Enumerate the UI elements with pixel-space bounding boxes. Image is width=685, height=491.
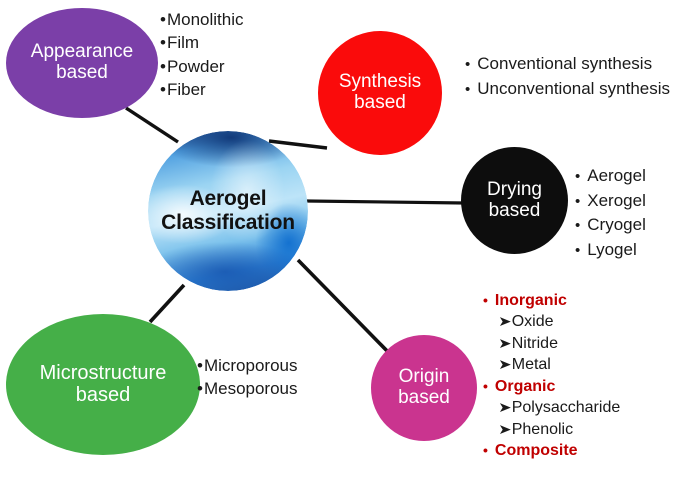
bullet-icon: • — [160, 78, 166, 101]
list-appearance-items: • Monolithic • Film • Powder • Fiber — [160, 8, 244, 102]
list-subitem-label: Phenolic — [512, 419, 573, 440]
page-title: Aerogel Classification — [148, 187, 308, 234]
node-origin-based[interactable]: Origin based — [371, 335, 477, 441]
list-subitem-label: Oxide — [512, 311, 554, 332]
node-appearance-label-line1: Appearance — [31, 42, 133, 63]
node-appearance-label-line2: based — [31, 63, 133, 84]
list-item-label: Unconventional synthesis — [477, 77, 670, 102]
list-item-label: Film — [167, 31, 199, 54]
bullet-icon: • — [465, 79, 470, 101]
connector-microstructure — [150, 285, 184, 322]
list-synthesis-items: • Conventional synthesis • Unconventiona… — [465, 52, 670, 101]
list-item: • Cryogel — [575, 213, 646, 238]
list-group-label: Organic — [495, 376, 555, 397]
node-microstructure-based[interactable]: Microstructure based — [6, 314, 200, 455]
arrow-bullet-icon: ➤ — [498, 312, 511, 331]
node-synthesis-label-line1: Synthesis — [339, 72, 421, 93]
node-drying-label-line2: based — [487, 201, 542, 222]
node-origin-label-line2: based — [398, 388, 450, 409]
list-item: • Conventional synthesis — [465, 52, 670, 77]
bullet-icon: • — [575, 166, 580, 188]
bullet-icon: • — [575, 240, 580, 262]
list-item-label: Xerogel — [587, 189, 646, 214]
node-center-aerogel-classification[interactable]: Aerogel Classification — [148, 131, 308, 291]
bullet-icon: • — [197, 354, 203, 377]
bullet-icon: • — [465, 54, 470, 76]
node-microstructure-label-line2: based — [40, 385, 167, 407]
list-item: • Microporous — [197, 354, 298, 377]
list-item-label: Microporous — [204, 354, 298, 377]
bullet-icon: • — [483, 291, 488, 310]
connector-drying — [307, 201, 464, 203]
bullet-icon: • — [160, 31, 166, 54]
list-subitem-label: Metal — [512, 354, 551, 375]
arrow-bullet-icon: ➤ — [498, 420, 511, 439]
list-item: • Powder — [160, 55, 244, 78]
center-label-line2: Classification — [161, 211, 295, 234]
list-item: • Unconventional synthesis — [465, 77, 670, 102]
list-item-label: Conventional synthesis — [477, 52, 652, 77]
list-group-header: • Composite — [483, 440, 620, 461]
node-drying-based[interactable]: Drying based — [461, 147, 568, 254]
bullet-icon: • — [160, 8, 166, 31]
list-group-header: • Organic — [483, 376, 620, 397]
list-group-header: • Inorganic — [483, 290, 620, 311]
arrow-bullet-icon: ➤ — [498, 355, 511, 374]
list-group-label: Composite — [495, 440, 578, 461]
node-origin-label-line1: Origin — [398, 367, 450, 388]
list-item: • Xerogel — [575, 189, 646, 214]
list-item: • Mesoporous — [197, 377, 298, 400]
arrow-bullet-icon: ➤ — [498, 398, 511, 417]
node-drying-label-line1: Drying — [487, 180, 542, 201]
list-subitem: ➤ Metal — [499, 354, 620, 375]
node-microstructure-label-line1: Microstructure — [40, 363, 167, 385]
list-subitem: ➤ Nitride — [499, 333, 620, 354]
list-item-label: Fiber — [167, 78, 206, 101]
list-drying-items: • Aerogel • Xerogel • Cryogel • Lyogel — [575, 164, 646, 263]
list-item-label: Cryogel — [587, 213, 646, 238]
bullet-icon: • — [575, 215, 580, 237]
connector-synthesis — [269, 141, 327, 148]
list-subitem: ➤ Polysaccharide — [499, 397, 620, 418]
list-microstructure-items: • Microporous • Mesoporous — [197, 354, 298, 401]
list-item: • Monolithic — [160, 8, 244, 31]
list-item: • Fiber — [160, 78, 244, 101]
list-subitem: ➤ Phenolic — [499, 419, 620, 440]
list-item-label: Mesoporous — [204, 377, 298, 400]
node-synthesis-label-line2: based — [339, 93, 421, 114]
bullet-icon: • — [160, 55, 166, 78]
list-item: • Lyogel — [575, 238, 646, 263]
aerogel-classification-diagram: Appearance based • Monolithic • Film • P… — [0, 0, 685, 491]
list-group-label: Inorganic — [495, 290, 567, 311]
connector-origin — [298, 260, 393, 357]
bullet-icon: • — [197, 377, 203, 400]
list-item-label: Aerogel — [587, 164, 646, 189]
list-item-label: Monolithic — [167, 8, 244, 31]
list-item: • Aerogel — [575, 164, 646, 189]
bullet-icon: • — [483, 441, 488, 460]
list-subitem-label: Nitride — [512, 333, 558, 354]
list-origin-items: • Inorganic ➤ Oxide ➤ Nitride ➤ Metal • … — [483, 290, 620, 462]
node-synthesis-based[interactable]: Synthesis based — [318, 31, 442, 155]
bullet-icon: • — [483, 377, 488, 396]
center-label-line1: Aerogel — [190, 187, 267, 210]
node-appearance-based[interactable]: Appearance based — [6, 8, 158, 118]
connector-appearance — [126, 108, 178, 142]
arrow-bullet-icon: ➤ — [498, 334, 511, 353]
list-item-label: Powder — [167, 55, 225, 78]
bullet-icon: • — [575, 191, 580, 213]
list-subitem: ➤ Oxide — [499, 311, 620, 332]
list-subitem-label: Polysaccharide — [512, 397, 621, 418]
list-item-label: Lyogel — [587, 238, 636, 263]
list-item: • Film — [160, 31, 244, 54]
